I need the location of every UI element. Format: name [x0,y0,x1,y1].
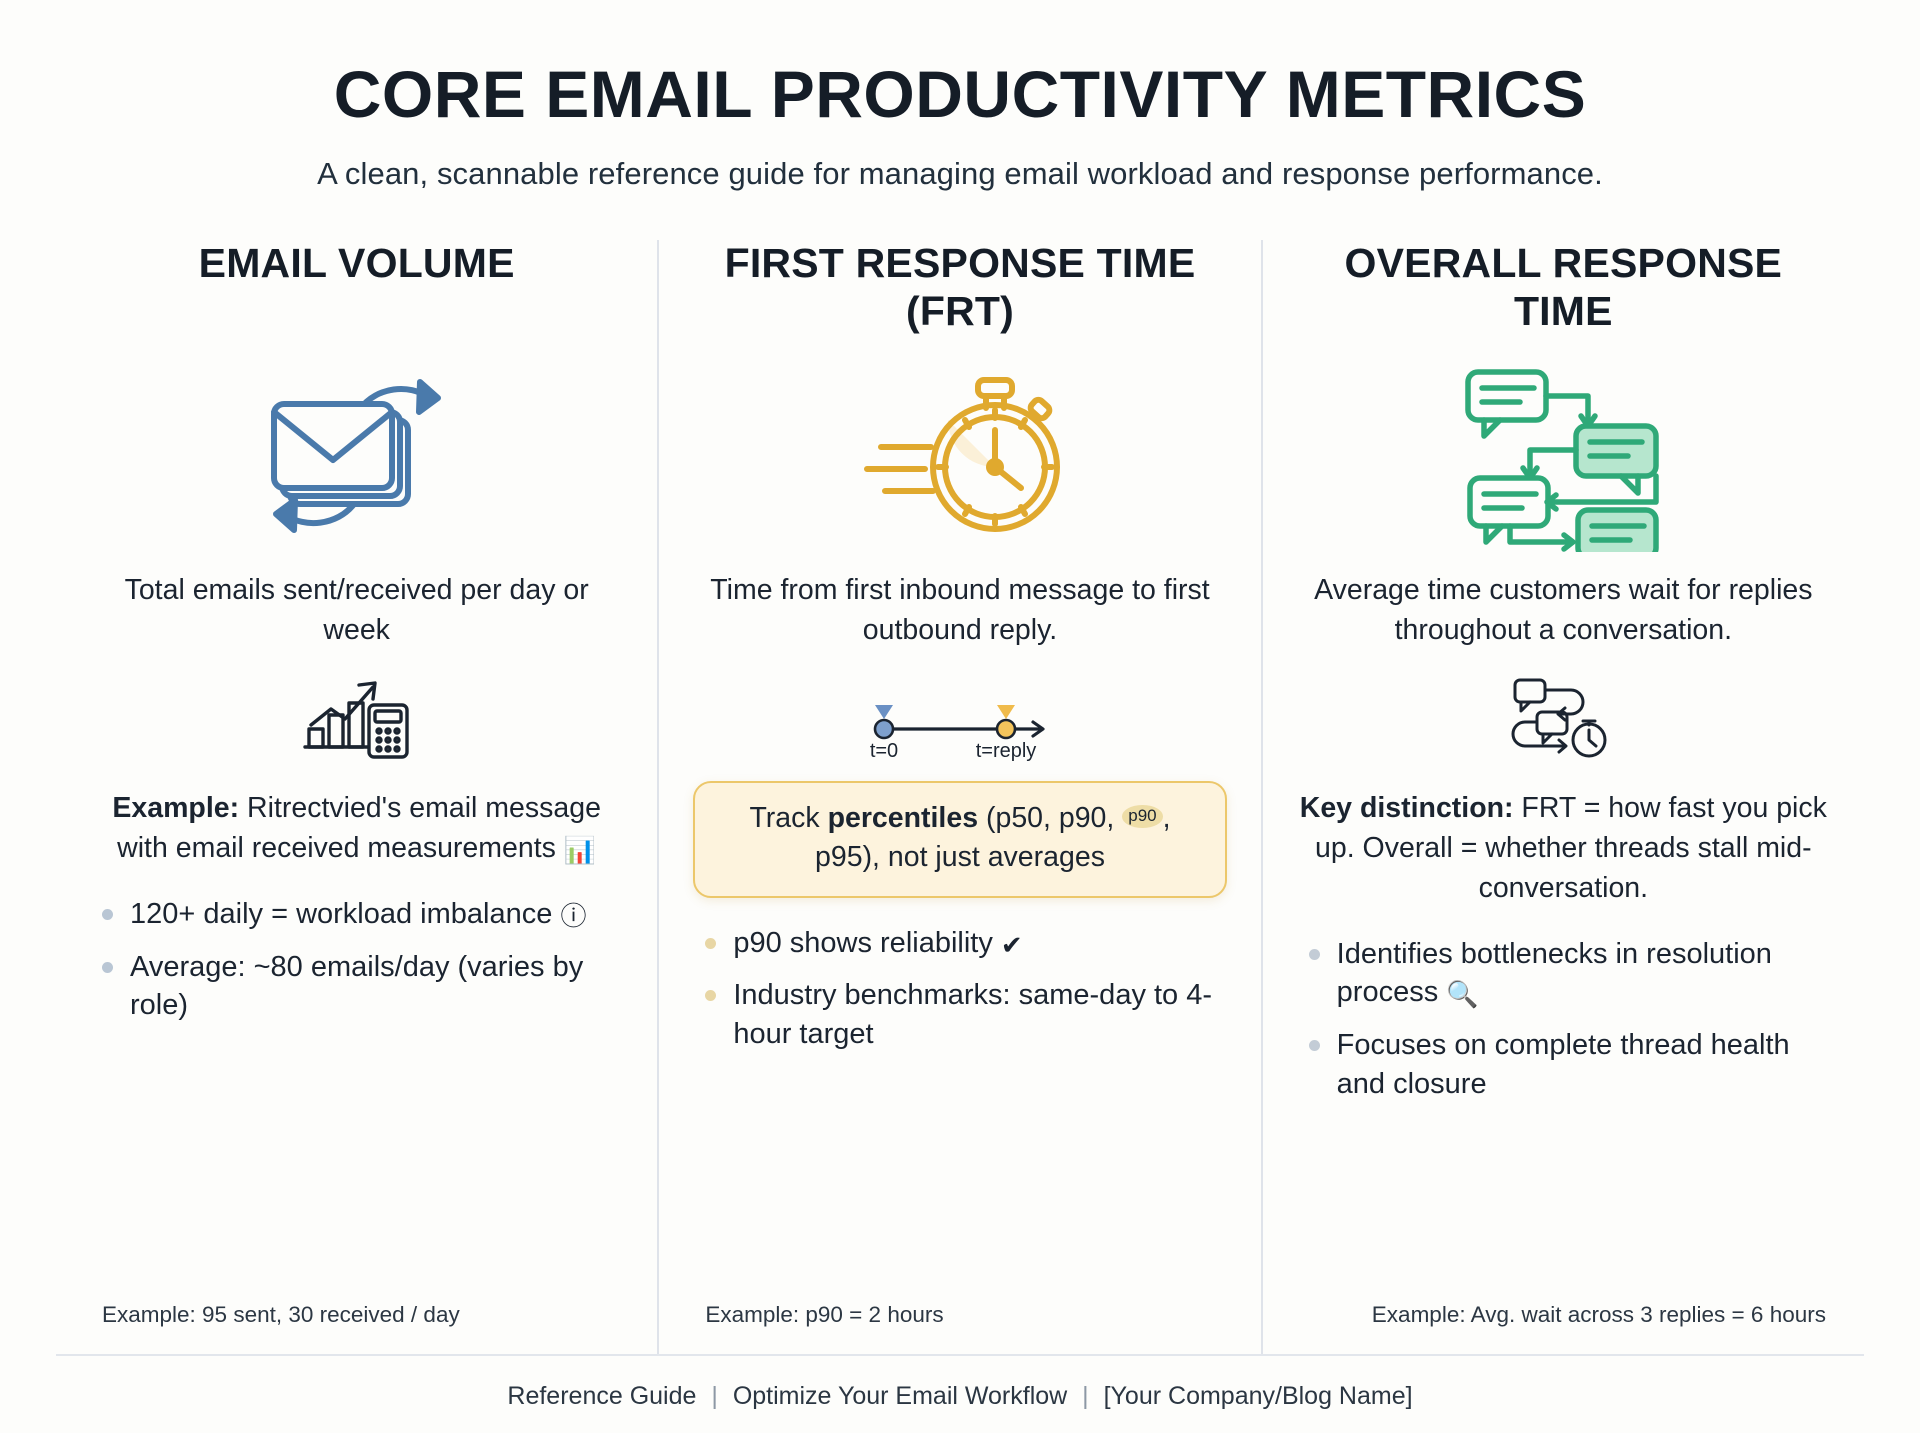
list-item: p90 shows reliability ✔ [693,924,1226,963]
list-item: Industry benchmarks: same-day to 4-hour … [693,976,1226,1054]
list-item: Focuses on complete thread health and cl… [1297,1026,1830,1104]
footnote-first-response-time: Example: p90 = 2 hours [693,1302,1226,1328]
footer-separator-1: | [703,1382,726,1410]
callout-bold: percentiles [828,802,979,834]
column-title-first-response-time: FIRST RESPONSE TIME (FRT) [693,240,1226,344]
column-description-email-volume: Total emails sent/received per day or we… [90,571,623,653]
chat-loop-stopwatch-icon [1503,667,1623,767]
column-title-email-volume: EMAIL VOLUME [199,240,515,344]
example-lead-email-volume: Example: Ritrectvied's email message wit… [90,789,623,869]
header: CORE EMAIL PRODUCTIVITY METRICS A clean,… [56,60,1864,192]
bullet-list-first-response-time: p90 shows reliability ✔ Industry benchma… [693,924,1226,1069]
metric-columns: EMAIL VOLUME Total emails sent/rec [56,240,1864,1354]
page-title: CORE EMAIL PRODUCTIVITY METRICS [56,60,1864,130]
key-distinction-lead: Key distinction: FRT = how fast you pick… [1297,789,1830,909]
footer-separator-2: | [1074,1382,1097,1410]
list-item: 120+ daily = workload imbalance ⓘ [90,895,623,934]
column-overall-response-time: OVERALL RESPONSE TIME [1261,240,1864,1354]
key-distinction-label: Key distinction: [1300,792,1514,824]
column-first-response-time: FIRST RESPONSE TIME (FRT) [657,240,1260,1354]
timeline-t0-treply-icon: t=0 t=reply [845,667,1075,767]
footer-part-3: [Your Company/Blog Name] [1104,1382,1413,1410]
column-description-overall-response-time: Average time customers wait for replies … [1297,571,1830,653]
bar-chart-emoji-icon: 📊 [564,835,596,865]
footnote-email-volume: Example: 95 sent, 30 received / day [90,1302,623,1328]
page-subtitle: A clean, scannable reference guide for m… [56,156,1864,192]
bullet-text: p90 shows reliability [733,927,993,959]
footnote-overall-response-time: Example: Avg. wait across 3 replies = 6 … [1297,1302,1830,1328]
list-item: Average: ~80 emails/day (varies by role) [90,948,623,1026]
p90-chip-badge: p90 [1122,805,1162,828]
example-label: Example: [112,792,239,824]
percentiles-callout: Track percentiles (p50, p90, p90, p95), … [693,781,1226,898]
footer-part-1: Reference Guide [507,1382,696,1410]
infographic-page: CORE EMAIL PRODUCTIVITY METRICS A clean,… [0,0,1920,1433]
svg-text:t=0: t=0 [870,740,898,762]
bar-chart-calculator-icon [297,667,417,767]
bullet-text: Identifies bottlenecks in resolution pro… [1337,938,1772,1009]
check-mark-icon: ✔ [1001,930,1023,960]
bullet-text: 120+ daily = workload imbalance [130,898,552,930]
list-item: Identifies bottlenecks in resolution pro… [1297,935,1830,1013]
column-title-overall-response-time: OVERALL RESPONSE TIME [1297,240,1830,344]
svg-text:t=reply: t=reply [976,740,1037,762]
callout-prefix: Track [749,802,827,834]
callout-middle: (p50, p90, [978,802,1122,834]
footer: Reference Guide | Optimize Your Email Wo… [56,1354,1864,1433]
column-description-first-response-time: Time from first inbound message to first… [693,571,1226,653]
stopwatch-icon [845,350,1075,565]
bullet-list-overall-response-time: Identifies bottlenecks in resolution pro… [1297,935,1830,1118]
magnifier-icon: 🔍 [1446,979,1478,1009]
footer-part-2: Optimize Your Email Workflow [733,1382,1067,1410]
bullet-list-email-volume: 120+ daily = workload imbalance ⓘ Averag… [90,895,623,1040]
info-circle-icon: ⓘ [560,901,586,931]
stacked-envelopes-icon [242,350,472,565]
column-email-volume: EMAIL VOLUME Total emails sent/rec [56,240,657,1354]
chat-bubble-flow-icon [1448,350,1678,565]
